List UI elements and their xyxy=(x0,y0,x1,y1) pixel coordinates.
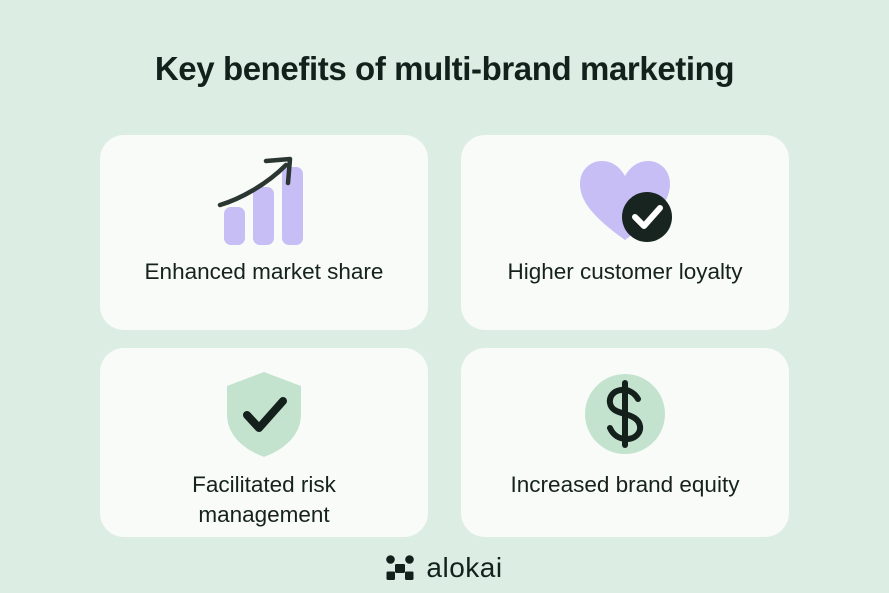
benefit-card-label: Enhanced market share xyxy=(145,257,384,287)
benefit-card-higher-customer-loyalty[interactable]: Higher customer loyalty xyxy=(461,135,789,330)
benefit-card-increased-brand-equity[interactable]: Increased brand equity xyxy=(461,348,789,537)
alokai-logo-mark-icon xyxy=(386,555,414,581)
heart-check-icon xyxy=(575,151,675,251)
brand-name: alokai xyxy=(426,552,502,584)
dollar-circle-icon xyxy=(582,364,668,464)
page-title: Key benefits of multi-brand marketing xyxy=(0,50,889,88)
benefit-card-label: Higher customer loyalty xyxy=(507,257,742,287)
benefits-grid: Enhanced market share Higher customer lo… xyxy=(100,135,789,537)
bar-chart-growth-icon xyxy=(214,151,314,251)
benefit-card-label: Facilitated risk management xyxy=(139,470,389,530)
infographic-page: Key benefits of multi-brand marketing En… xyxy=(0,0,889,593)
shield-check-icon xyxy=(221,364,307,464)
benefit-card-label: Increased brand equity xyxy=(511,470,740,500)
footer-brand: alokai xyxy=(0,552,889,584)
benefit-card-facilitated-risk-management[interactable]: Facilitated risk management xyxy=(100,348,428,537)
benefit-card-enhanced-market-share[interactable]: Enhanced market share xyxy=(100,135,428,330)
